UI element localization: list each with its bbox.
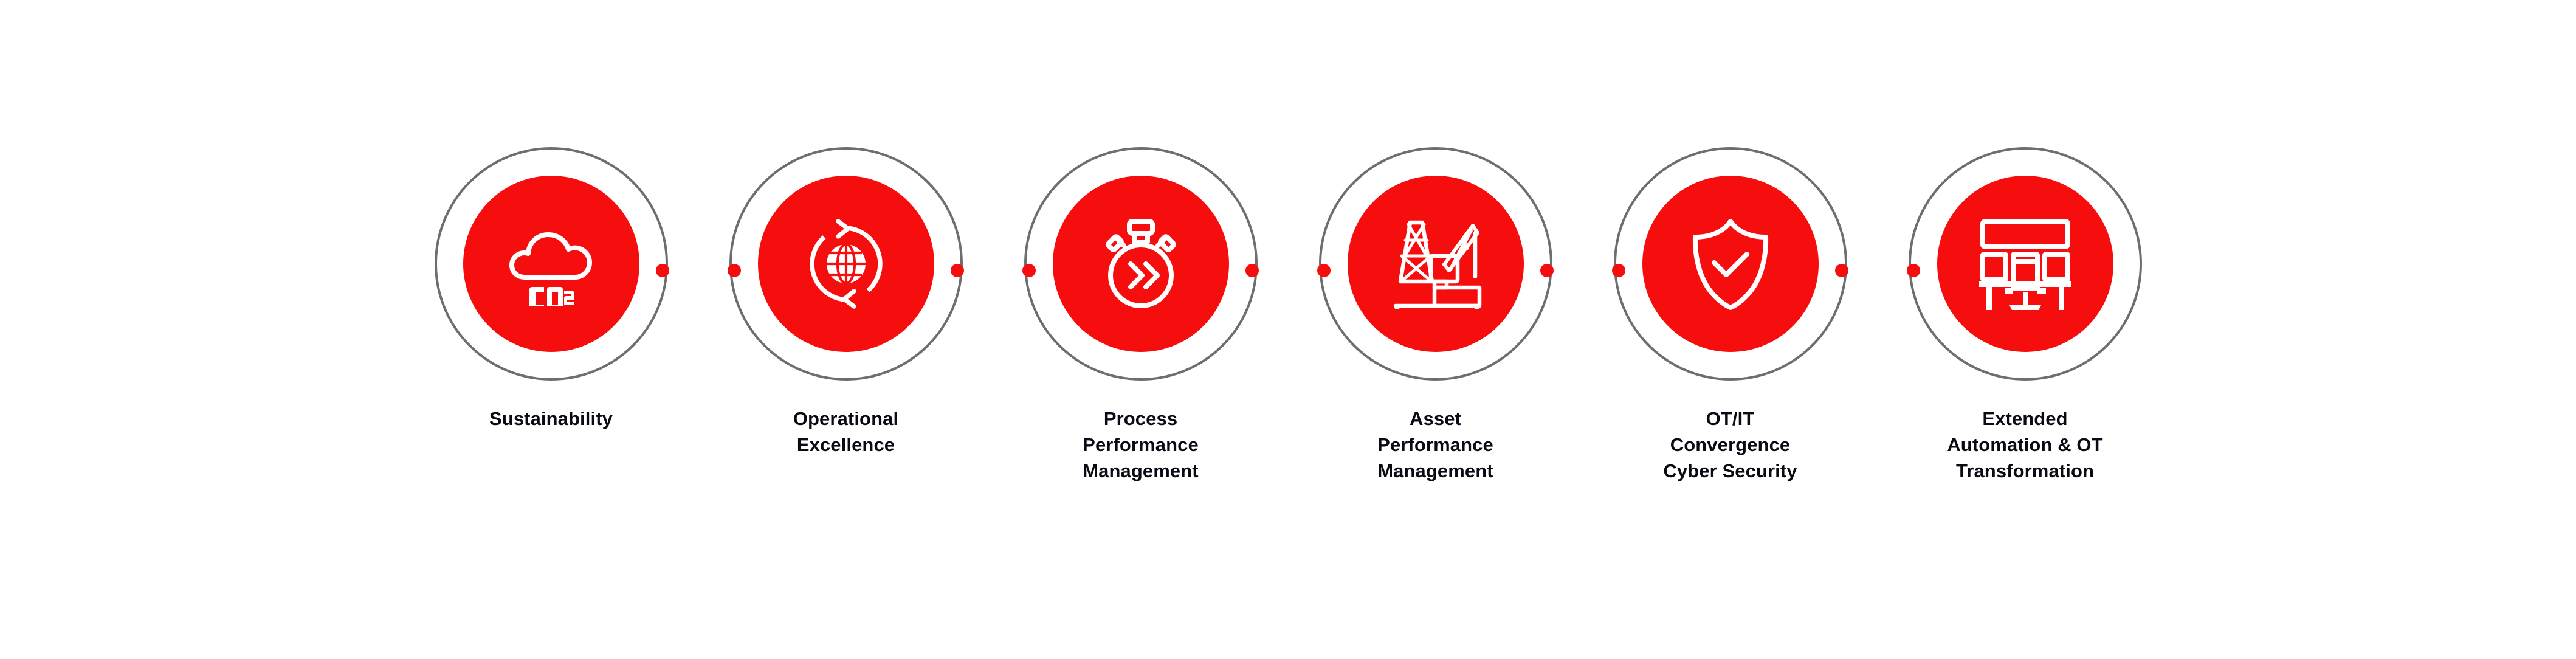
pillar-ring	[1909, 147, 2142, 381]
pillar-disc	[463, 176, 639, 352]
connector-dots	[951, 264, 1036, 277]
pillar-process-performance-management[interactable]: Process Performance Management	[993, 147, 1288, 484]
pillar-label: Operational Excellence	[715, 406, 977, 458]
connector-dots	[1835, 264, 1920, 277]
pillar-sustainability[interactable]: Sustainability	[404, 147, 698, 432]
pillar-ring	[1319, 147, 1552, 381]
pillar-disc	[1348, 176, 1524, 352]
pillar-ring	[1024, 147, 1258, 381]
connector-dot	[1317, 264, 1331, 277]
connector-dot	[951, 264, 964, 277]
pillar-ring	[1614, 147, 1847, 381]
pillar-ring	[435, 147, 668, 381]
pillar-disc	[1937, 176, 2113, 352]
connector-dot	[1022, 264, 1036, 277]
pillar-ring	[729, 147, 963, 381]
globe-refresh-cycle-icon	[801, 218, 892, 309]
pillar-disc	[1053, 176, 1229, 352]
connector-dot	[1612, 264, 1625, 277]
pillar-label: Asset Performance Management	[1305, 406, 1566, 484]
control-room-workstation-icon	[1978, 218, 2073, 310]
shield-check-icon	[1688, 216, 1773, 311]
pillar-label: Sustainability	[421, 406, 682, 432]
connector-dot	[1540, 264, 1554, 277]
pillar-label: OT/IT Convergence Cyber Security	[1600, 406, 1861, 484]
pillar-disc	[758, 176, 934, 352]
pillar-asset-performance-management[interactable]: Asset Performance Management	[1288, 147, 1583, 484]
connector-dot	[728, 264, 741, 277]
connector-dot	[1835, 264, 1848, 277]
co2-cloud-icon	[506, 221, 597, 306]
connector-dot	[1245, 264, 1259, 277]
connector-dot	[656, 264, 669, 277]
connector-dot	[1907, 264, 1920, 277]
pillar-operational-excellence[interactable]: Operational Excellence	[698, 147, 993, 458]
connector-dots	[1540, 264, 1625, 277]
connector-dots	[1245, 264, 1331, 277]
connector-dots	[656, 264, 741, 277]
pillar-row: Sustainability	[0, 0, 2576, 659]
pillar-extended-automation-ot-transformation[interactable]: Extended Automation & OT Transformation	[1878, 147, 2172, 484]
pillar-ot-it-convergence-cyber-security[interactable]: OT/IT Convergence Cyber Security	[1583, 147, 1878, 484]
offshore-rig-crane-icon	[1388, 218, 1483, 309]
pillar-disc	[1642, 176, 1819, 352]
stopwatch-fast-forward-icon	[1095, 218, 1186, 310]
pillar-label: Extended Automation & OT Transformation	[1895, 406, 2156, 484]
diagram-canvas: Sustainability	[0, 0, 2576, 659]
pillar-label: Process Performance Management	[1010, 406, 1272, 484]
